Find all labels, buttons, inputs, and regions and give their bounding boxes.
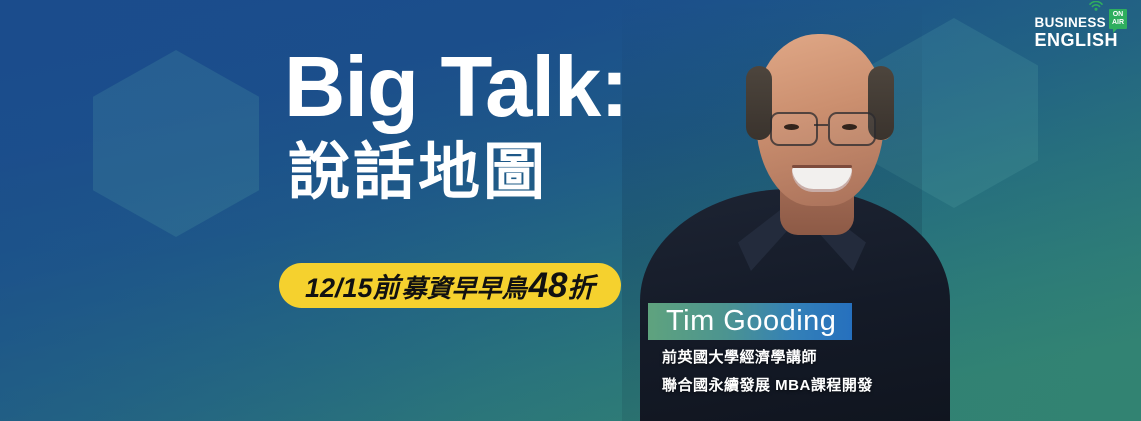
promo-badge[interactable]: 12/15前募資早早鳥48折 — [279, 263, 621, 308]
brand-logo[interactable]: BUSINESS ON AIR ENGLISH — [1035, 9, 1127, 49]
portrait-mouth-line — [792, 165, 852, 168]
on-air-line-1: ON — [1113, 11, 1124, 18]
portrait-eye-right — [842, 124, 857, 130]
on-air-line-2: AIR — [1112, 19, 1124, 26]
speaker-name: Tim Gooding — [666, 305, 836, 338]
logo-top-row: BUSINESS ON AIR — [1035, 9, 1127, 30]
promo-discount-value: 48 — [529, 266, 568, 306]
credential-line-2: 聯合國永續發展 MBA課程開發 — [662, 374, 873, 395]
logo-english-text: ENGLISH — [1035, 31, 1127, 50]
portrait-glasses-bridge — [814, 124, 828, 126]
on-air-badge: ON AIR — [1109, 9, 1127, 29]
promo-middle-text: 募資早早鳥 — [402, 269, 527, 305]
title-english: Big Talk: — [284, 47, 628, 129]
portrait-hair-side-left — [746, 66, 772, 140]
wifi-broadcast-icon — [1089, 1, 1103, 11]
portrait-eye-left — [784, 124, 799, 130]
speaker-credentials: 前英國大學經濟學講師 聯合國永續發展 MBA課程開發 — [662, 346, 873, 402]
speaker-name-bar: Tim Gooding — [648, 303, 852, 340]
headline-block: Big Talk: 說話地圖 — [284, 47, 628, 204]
logo-business-text: BUSINESS — [1035, 16, 1106, 30]
title-chinese: 說話地圖 — [288, 141, 628, 204]
promo-banner: Big Talk: 說話地圖 12/15前募資早早鳥48折 Tim Goodin… — [0, 0, 1141, 421]
promo-date: 12/15 — [305, 273, 373, 304]
credential-line-1: 前英國大學經濟學講師 — [662, 346, 873, 367]
promo-discount-unit: 折 — [568, 266, 595, 305]
promo-badge-text: 12/15前募資早早鳥48折 — [305, 266, 595, 306]
promo-date-suffix: 前 — [373, 266, 400, 305]
